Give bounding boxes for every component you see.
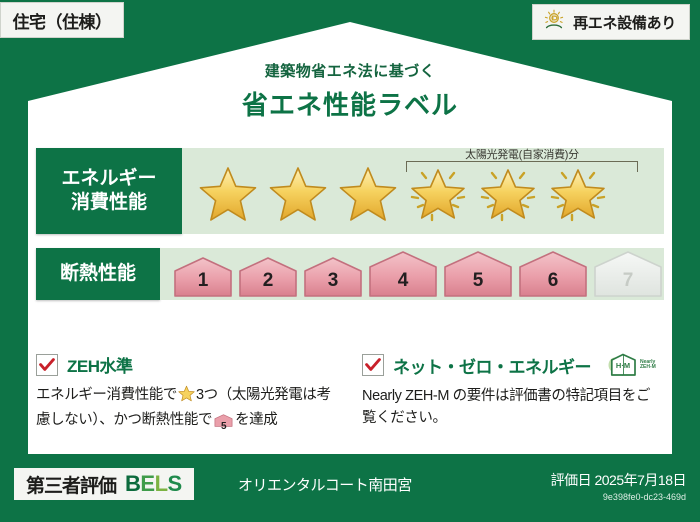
- evaluation-info: 評価日 2025年7月18日 9e398fe0-dc23-469d: [551, 470, 686, 502]
- check-icon: [362, 354, 384, 376]
- grade-badge-4: 4: [367, 250, 439, 298]
- nearly-zeh-m-caption: NearlyZEH-M: [640, 360, 656, 371]
- grade-badge-3: 3: [302, 256, 364, 298]
- zeh-standard-block: ZEH水準 エネルギー消費性能で3つ（太陽光発電は考慮しない）、かつ断熱性能で5…: [36, 352, 336, 436]
- zeh-desc-part1: エネルギー消費性能で: [36, 387, 177, 403]
- insulation-performance-body: 1 2 3: [160, 248, 664, 300]
- renewable-energy-badge: 再エネ設備あり: [532, 4, 690, 40]
- insulation-performance-row: 断熱性能 1: [36, 248, 664, 300]
- star-icon: [194, 161, 262, 227]
- star-icon-sparkle: [404, 161, 472, 227]
- net-zero-energy-description: Nearly ZEH-M の要件は評価書の特記項目をご覧ください。: [362, 385, 662, 430]
- third-party-label: 第三者評価: [26, 471, 116, 498]
- renewable-badge-label: 再エネ設備あり: [573, 12, 676, 33]
- energy-label-line1: エネルギー: [61, 167, 156, 191]
- category-tag-label: 住宅（住棟）: [13, 8, 112, 33]
- building-name: オリエンタルコート南田宮: [238, 474, 412, 495]
- star-icon-sparkle: [474, 161, 542, 227]
- evaluation-id: 9e398fe0-dc23-469d: [551, 492, 686, 502]
- grade-badge-value: 3: [302, 270, 364, 292]
- energy-performance-row: エネルギー 消費性能 太陽光発電(自家消費)分: [36, 148, 664, 234]
- grade-badge-value: 7: [592, 270, 664, 292]
- energy-performance-label-box: エネルギー 消費性能: [36, 148, 182, 234]
- footer-bar: 第三者評価 BELS オリエンタルコート南田宮 評価日 2025年7月18日 9…: [0, 460, 700, 522]
- bels-wordmark: BELS: [125, 471, 182, 497]
- grade-badge-value: 1: [172, 270, 234, 292]
- insulation-label: 断熱性能: [60, 262, 136, 286]
- energy-label-line2: 消費性能: [71, 191, 147, 215]
- title-subtitle: 建築物省エネ法に基づく: [0, 60, 700, 81]
- star-icon: [264, 161, 332, 227]
- insulation-performance-label-box: 断熱性能: [36, 248, 160, 300]
- grade-badge-inline: 5: [214, 413, 233, 435]
- energy-performance-label: 住宅（住棟） 再エネ設備あり 建築物省エネ法に基づく: [0, 0, 700, 522]
- grade-badge-7: 7: [592, 250, 664, 298]
- performance-rows: エネルギー 消費性能 太陽光発電(自家消費)分: [36, 148, 664, 300]
- sun-icon: [542, 8, 566, 37]
- grade-badge-value: 6: [517, 270, 589, 292]
- page-title: 省エネ性能ラベル: [0, 85, 700, 122]
- zeh-standard-title: ZEH水準: [67, 352, 133, 377]
- star-icon-inline: [178, 385, 195, 409]
- grade-badge-6: 6: [517, 250, 589, 298]
- check-icon: [36, 354, 58, 376]
- evaluation-date: 評価日 2025年7月18日: [551, 470, 686, 490]
- star-rating: [182, 161, 612, 227]
- grade-badge-1: 1: [172, 256, 234, 298]
- grade-badge-value: 5: [442, 270, 514, 292]
- grade-badge-5: 5: [442, 250, 514, 298]
- net-zero-energy-block: ネット・ゼロ・エネルギー H·M NearlyZEH-M Nearly ZEH-…: [362, 352, 662, 436]
- zeh-standard-description: エネルギー消費性能で3つ（太陽光発電は考慮しない）、かつ断熱性能で5を達成: [36, 384, 336, 436]
- energy-performance-body: 太陽光発電(自家消費)分: [182, 148, 664, 234]
- insulation-grade-scale: 1 2 3: [160, 250, 664, 298]
- criteria-section: ZEH水準 エネルギー消費性能で3つ（太陽光発電は考慮しない）、かつ断熱性能で5…: [36, 352, 664, 436]
- bels-certification-mark: 第三者評価 BELS: [14, 468, 194, 500]
- grade-badge-value: 2: [237, 270, 299, 292]
- net-zero-energy-heading: ネット・ゼロ・エネルギー H·M NearlyZEH-M: [362, 352, 662, 378]
- grade-badge-2: 2: [237, 256, 299, 298]
- svg-text:H·M: H·M: [616, 361, 630, 370]
- zeh-standard-heading: ZEH水準: [36, 352, 336, 377]
- net-zero-energy-title: ネット・ゼロ・エネルギー: [393, 353, 591, 378]
- grade-badge-inline-value: 5: [214, 419, 233, 435]
- grade-badge-value: 4: [367, 270, 439, 292]
- zeh-desc-part3: を達成: [235, 412, 277, 428]
- star-icon: [334, 161, 402, 227]
- category-tag: 住宅（住棟）: [0, 2, 124, 38]
- nearly-zeh-m-logo: H·M NearlyZEH-M: [606, 352, 656, 378]
- star-icon-sparkle: [544, 161, 612, 227]
- title-block: 建築物省エネ法に基づく 省エネ性能ラベル: [0, 60, 700, 122]
- solar-annotation-label: 太陽光発電(自家消費)分: [406, 146, 638, 162]
